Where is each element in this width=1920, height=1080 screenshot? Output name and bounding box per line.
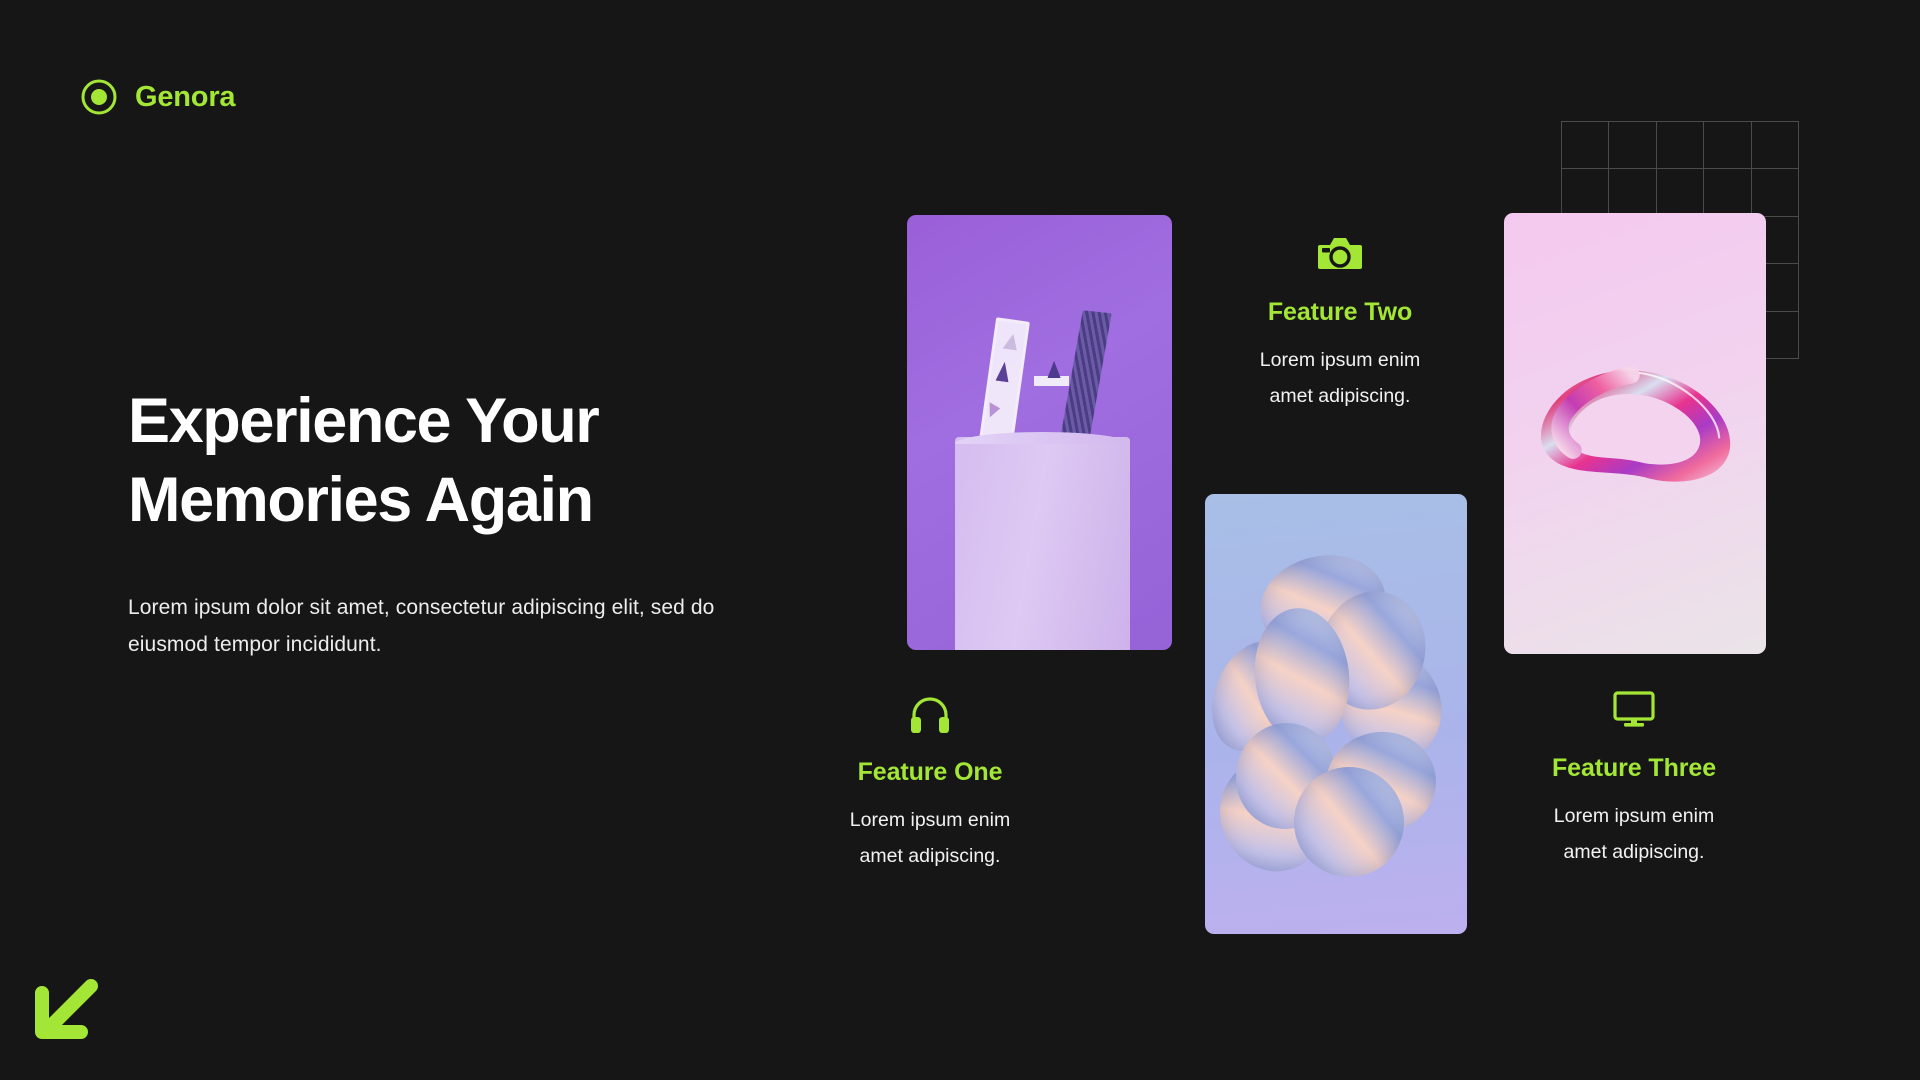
grid-cell <box>1751 121 1800 170</box>
feature-desc-line-2: amet adipiscing. <box>1270 385 1411 407</box>
feature-desc-line-2: amet adipiscing. <box>860 845 1001 867</box>
feature-card-three[interactable]: Feature Three Lorem ipsum enim amet adip… <box>1484 686 1784 870</box>
feature-desc-line-1: Lorem ipsum enim <box>850 809 1010 831</box>
monitor-icon <box>1484 686 1784 732</box>
grid-cell <box>1703 121 1752 170</box>
feature-desc-line-1: Lorem ipsum enim <box>1554 805 1714 827</box>
feature-description: Lorem ipsum enim amet adipiscing. <box>1190 342 1490 414</box>
grid-cell <box>1561 168 1610 217</box>
feature-title: Feature Two <box>1190 298 1490 327</box>
pedestal-shape <box>955 437 1130 650</box>
feature-desc-line-2: amet adipiscing. <box>1564 841 1705 863</box>
torus-shape <box>1528 323 1743 530</box>
frame-triangle-mid <box>995 361 1011 383</box>
feature-description: Lorem ipsum enim amet adipiscing. <box>780 802 1080 874</box>
grid-cell <box>1703 168 1752 217</box>
purple-pedestal-artwork <box>907 215 1172 650</box>
hero-copy: Experience Your Memories Again Lorem ips… <box>128 382 768 664</box>
feature-title: Feature One <box>780 758 1080 787</box>
feature-description: Lorem ipsum enim amet adipiscing. <box>1484 798 1784 870</box>
headphones-icon <box>780 690 1080 736</box>
grid-cell <box>1608 121 1657 170</box>
feature-title: Feature Three <box>1484 754 1784 783</box>
small-triangle-shape <box>1047 361 1060 378</box>
grid-cell <box>1656 121 1705 170</box>
grid-cell <box>1608 168 1657 217</box>
frame-triangle-bottom <box>987 403 1000 419</box>
headline-line-1: Experience Your <box>128 386 598 456</box>
headline-line-2: Memories Again <box>128 465 593 535</box>
feature-card-two[interactable]: Feature Two Lorem ipsum enim amet adipis… <box>1190 230 1490 414</box>
page-title: Experience Your Memories Again <box>128 382 768 541</box>
brand-name: Genora <box>135 81 235 114</box>
grid-cell <box>1656 168 1705 217</box>
feature-card-one[interactable]: Feature One Lorem ipsum enim amet adipis… <box>780 690 1080 874</box>
hero-paragraph: Lorem ipsum dolor sit amet, consectetur … <box>128 589 728 664</box>
target-dot-icon <box>80 78 118 116</box>
brand-logo[interactable]: Genora <box>80 78 235 116</box>
pink-torus-artwork <box>1504 213 1766 654</box>
grid-cell <box>1751 168 1800 217</box>
blue-marble-blob-artwork <box>1205 494 1467 934</box>
camera-icon <box>1190 230 1490 276</box>
slide-root: Genora Experience Your Memories Again Lo… <box>0 0 1920 1080</box>
grid-cell <box>1561 121 1610 170</box>
blob-cluster <box>1205 494 1467 934</box>
arrow-down-left-icon[interactable] <box>28 975 102 1049</box>
frame-triangle-top <box>1002 333 1019 351</box>
feature-desc-line-1: Lorem ipsum enim <box>1260 349 1420 371</box>
